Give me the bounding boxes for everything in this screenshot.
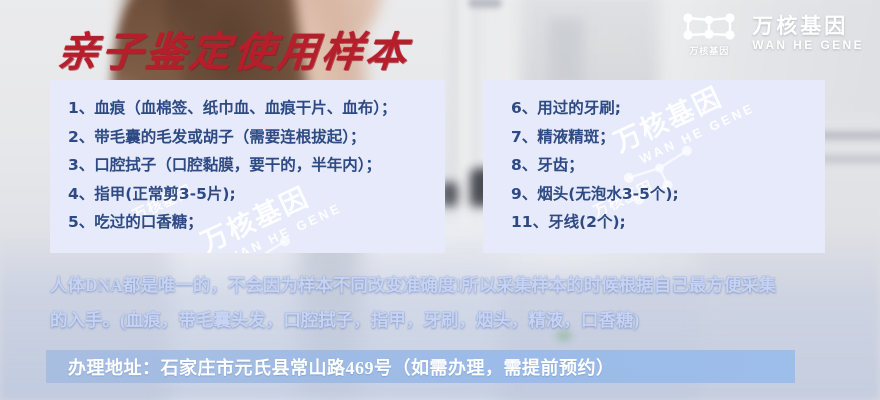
list-item: 7、精液精斑； bbox=[511, 123, 825, 152]
sample-list-right: 6、用过的牙刷; 7、精液精斑； 8、牙齿； 9、烟头(无泡水3-5个); 11… bbox=[483, 80, 825, 237]
dna-molecule-icon bbox=[680, 10, 738, 42]
sample-panel-left: 万核基因 WAN HE GENE 万核基因 1、 bbox=[50, 80, 445, 253]
brand-mark-sublabel: 万核基因 bbox=[689, 44, 729, 57]
address-bar: 办理地址：石家庄市元氏县常山路469号（如需办理，需提前预约） bbox=[46, 350, 795, 383]
list-item: 5、吃过的口香糖； bbox=[68, 208, 445, 237]
paragraph-line-1: 人体DNA都是唯一的，不会因为样本不同改变准确度!所以采集样本的时候根据自己最方… bbox=[50, 268, 840, 303]
list-item: 2、带毛囊的毛发或胡子（需要连根拔起）； bbox=[68, 123, 445, 152]
brand-text: 万核基因 WAN HE GENE bbox=[752, 15, 864, 52]
list-item: 11、牙线(2个); bbox=[511, 208, 825, 237]
poster-canvas: 亲子鉴定使用样本 bbox=[0, 0, 880, 400]
list-item: 8、牙齿； bbox=[511, 151, 825, 180]
list-item: 9、烟头(无泡水3-5个); bbox=[511, 180, 825, 209]
list-item: 4、指甲(正常剪3-5片); bbox=[68, 180, 445, 209]
sample-list-left: 1、血痕（血棉签、纸巾血、血痕干片、血布）； 2、带毛囊的毛发或胡子（需要连根拔… bbox=[50, 80, 445, 237]
brand-name-cn: 万核基因 bbox=[752, 15, 864, 39]
list-item: 3、口腔拭子（口腔黏膜，要干的，半年内）； bbox=[68, 151, 445, 180]
brand-logo: 万核基因 万核基因 WAN HE GENE bbox=[680, 10, 864, 57]
list-item: 6、用过的牙刷; bbox=[511, 94, 825, 123]
background-door-handle bbox=[468, 0, 502, 8]
brand-name-en: WAN HE GENE bbox=[752, 39, 864, 52]
description-paragraph: 人体DNA都是唯一的，不会因为样本不同改变准确度!所以采集样本的时候根据自己最方… bbox=[50, 268, 840, 338]
address-text: 办理地址：石家庄市元氏县常山路469号（如需办理，需提前预约） bbox=[46, 354, 615, 380]
sample-panel-right: 万核基因 WAN HE GENE 万核基因 6、 bbox=[483, 80, 825, 253]
paragraph-line-2: 的入手。(血痕，带毛囊头发，口腔拭子，指甲，牙刷，烟头，精液，口香糖) bbox=[50, 303, 840, 338]
brand-mark: 万核基因 bbox=[680, 10, 738, 57]
list-item: 1、血痕（血棉签、纸巾血、血痕干片、血布）； bbox=[68, 94, 445, 123]
page-title: 亲子鉴定使用样本 bbox=[55, 18, 413, 78]
background-cabinet-inner bbox=[548, 18, 584, 88]
